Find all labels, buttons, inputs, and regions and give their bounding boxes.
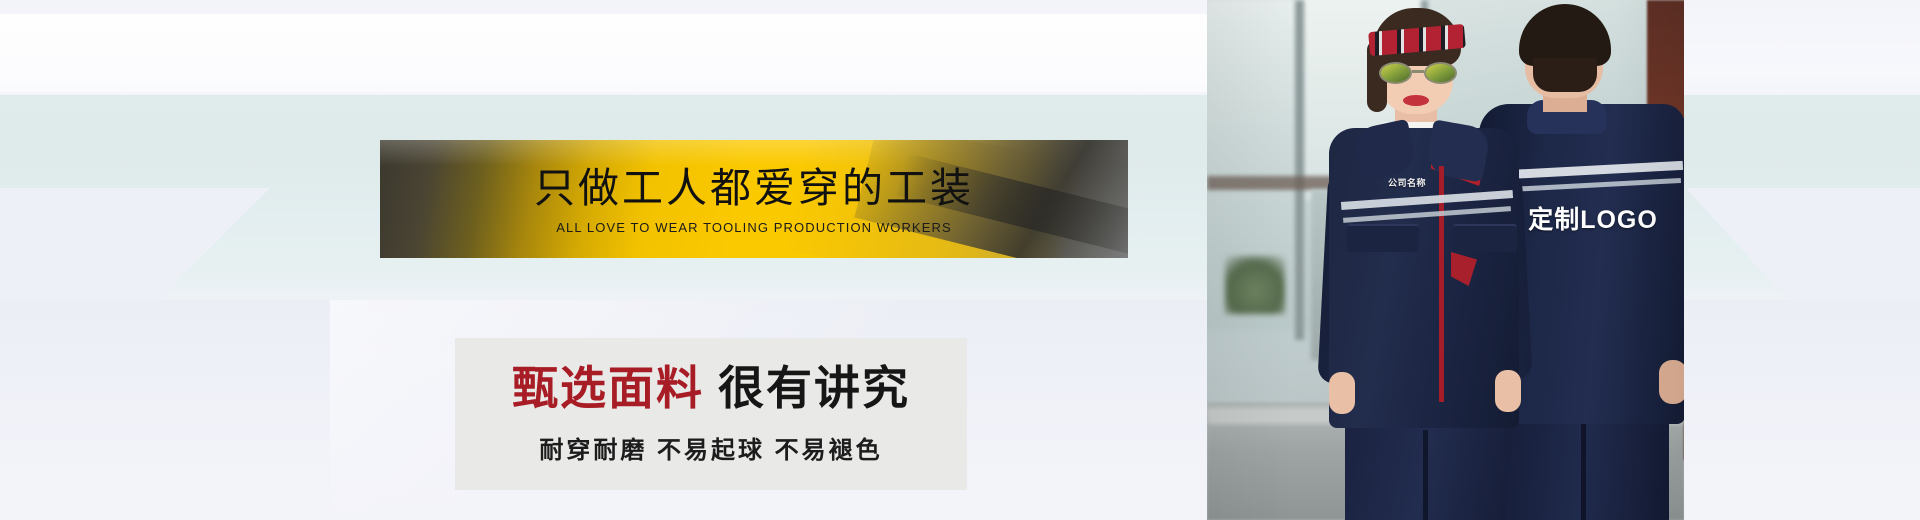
feature-heading-plain: 很有讲究 <box>718 362 910 414</box>
model-woman-chest-badge: 公司名称 <box>1388 176 1426 189</box>
model-woman-chest-pocket-left <box>1347 224 1419 252</box>
headline-title: 只做工人都爱穿的工装 <box>534 167 974 210</box>
sunglasses-bridge <box>1412 70 1424 73</box>
model-woman-lips <box>1403 95 1429 106</box>
sunglasses-left-lens <box>1379 62 1412 84</box>
model-woman-chest-pocket-right <box>1453 224 1517 252</box>
feature-heading-accent: 甄选面料 <box>512 362 704 414</box>
sunglasses-right-lens <box>1424 62 1457 84</box>
photo-planter <box>1225 256 1285 314</box>
photo-window-mullion-1 <box>1295 0 1304 340</box>
model-man-right-hand <box>1659 360 1684 404</box>
model-woman-jacket <box>1329 128 1519 428</box>
model-woman-left-hand <box>1329 372 1355 414</box>
background-top-sheet <box>0 14 1300 92</box>
product-photo: 定制LOGO 公司名称 <box>1207 0 1684 520</box>
headline-subtitle: ALL LOVE TO WEAR TOOLING PRODUCTION WORK… <box>556 220 951 235</box>
model-man-trouser-seam <box>1581 424 1586 520</box>
headline-bar-content: 只做工人都爱穿的工装 ALL LOVE TO WEAR TOOLING PROD… <box>380 140 1128 258</box>
model-woman-trouser-seam <box>1423 430 1428 520</box>
model-woman-right-hand <box>1495 370 1521 412</box>
feature-subheading: 耐穿耐磨 不易起球 不易褪色 <box>539 430 882 465</box>
feature-panel: 甄选面料很有讲究 耐穿耐磨 不易起球 不易褪色 <box>455 338 967 490</box>
headline-bar: 只做工人都爱穿的工装 ALL LOVE TO WEAR TOOLING PROD… <box>380 140 1128 258</box>
model-man-nape-hair <box>1533 58 1597 92</box>
feature-heading: 甄选面料很有讲究 <box>512 363 910 414</box>
promo-banner: 只做工人都爱穿的工装 ALL LOVE TO WEAR TOOLING PROD… <box>0 0 1920 520</box>
model-woman-sunglasses <box>1379 62 1457 84</box>
model-man-back-print: 定制LOGO <box>1507 200 1679 236</box>
